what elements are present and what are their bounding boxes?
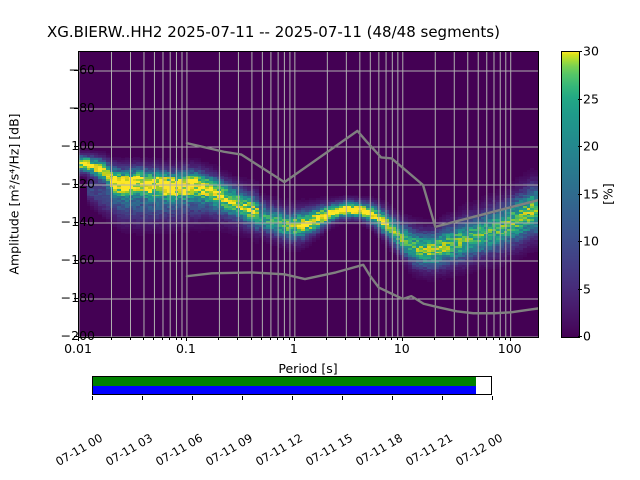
timeline-tick-mark bbox=[442, 396, 443, 400]
x-tick-mark bbox=[186, 337, 187, 341]
timeline-tick-mark bbox=[192, 396, 193, 400]
x-minor-tick-mark bbox=[499, 337, 500, 340]
colorbar-tick-label: 25 bbox=[583, 91, 599, 106]
y-tick-mark bbox=[74, 260, 78, 261]
x-minor-tick-mark bbox=[176, 337, 177, 340]
x-minor-tick-mark bbox=[130, 337, 131, 340]
colorbar-tick-label: 30 bbox=[583, 44, 599, 59]
ppsd-plot-area bbox=[78, 51, 539, 338]
colorbar-tick-mark bbox=[578, 99, 582, 100]
colorbar-tick-label: 5 bbox=[583, 281, 591, 296]
x-minor-tick-mark bbox=[453, 337, 454, 340]
x-tick-mark bbox=[510, 337, 511, 341]
x-minor-tick-mark bbox=[218, 337, 219, 340]
timeline-tick-mark bbox=[242, 396, 243, 400]
colorbar-tick-label: 0 bbox=[583, 329, 591, 344]
x-tick-label: 10 bbox=[394, 341, 410, 356]
x-minor-tick-mark bbox=[181, 337, 182, 340]
colorbar-tick-label: 10 bbox=[583, 234, 599, 249]
x-minor-tick-mark bbox=[369, 337, 370, 340]
x-minor-tick-mark bbox=[237, 337, 238, 340]
timeline-tick-label: 07-12 00 bbox=[453, 431, 505, 469]
x-minor-tick-mark bbox=[289, 337, 290, 340]
x-tick-mark bbox=[78, 337, 79, 341]
colorbar-tick-label: 20 bbox=[583, 139, 599, 154]
timeline-tick-label: 07-11 09 bbox=[203, 431, 255, 469]
ppsd-histogram bbox=[79, 52, 538, 337]
x-minor-tick-mark bbox=[169, 337, 170, 340]
timeline-tick-mark bbox=[342, 396, 343, 400]
x-minor-tick-mark bbox=[486, 337, 487, 340]
x-minor-tick-mark bbox=[385, 337, 386, 340]
x-tick-label: 100 bbox=[498, 341, 522, 356]
x-minor-tick-mark bbox=[251, 337, 252, 340]
y-axis-label: Amplitude [m²/s⁴/Hz] [dB] bbox=[7, 113, 22, 274]
y-tick-mark bbox=[74, 222, 78, 223]
colorbar-label: [%] bbox=[601, 183, 616, 205]
page-title: XG.BIERW..HH2 2025-07-11 -- 2025-07-11 (… bbox=[47, 23, 500, 41]
y-tick-mark bbox=[74, 108, 78, 109]
colorbar-tick-mark bbox=[578, 241, 582, 242]
x-minor-tick-mark bbox=[477, 337, 478, 340]
x-minor-tick-mark bbox=[345, 337, 346, 340]
x-minor-tick-mark bbox=[391, 337, 392, 340]
x-minor-tick-mark bbox=[434, 337, 435, 340]
y-tick-label: −80 bbox=[69, 100, 95, 115]
timeline-tick-mark bbox=[142, 396, 143, 400]
colorbar bbox=[561, 51, 580, 338]
x-minor-tick-mark bbox=[270, 337, 271, 340]
x-minor-tick-mark bbox=[397, 337, 398, 340]
data-coverage-green bbox=[93, 377, 476, 386]
timeline-tick-label: 07-11 00 bbox=[53, 431, 105, 469]
timeline-tick-label: 07-11 12 bbox=[253, 431, 305, 469]
y-tick-mark bbox=[74, 70, 78, 71]
timeline-tick-label: 07-11 15 bbox=[303, 431, 355, 469]
x-minor-tick-mark bbox=[359, 337, 360, 340]
x-minor-tick-mark bbox=[467, 337, 468, 340]
x-minor-tick-mark bbox=[283, 337, 284, 340]
x-minor-tick-mark bbox=[153, 337, 154, 340]
x-minor-tick-mark bbox=[111, 337, 112, 340]
colorbar-tick-mark bbox=[578, 51, 582, 52]
colorbar-tick-mark bbox=[578, 146, 582, 147]
timeline-tick-mark bbox=[292, 396, 293, 400]
data-coverage-timeline bbox=[92, 376, 492, 395]
x-minor-tick-mark bbox=[326, 337, 327, 340]
y-tick-mark bbox=[74, 146, 78, 147]
timeline-tick-mark bbox=[492, 396, 493, 400]
y-tick-mark bbox=[74, 184, 78, 185]
x-minor-tick-mark bbox=[505, 337, 506, 340]
y-tick-mark bbox=[74, 298, 78, 299]
x-minor-tick-mark bbox=[143, 337, 144, 340]
x-minor-tick-mark bbox=[277, 337, 278, 340]
x-tick-label: 0.1 bbox=[176, 341, 196, 356]
colorbar-tick-label: 15 bbox=[583, 186, 599, 201]
data-coverage-blue bbox=[93, 386, 476, 395]
timeline-tick-mark bbox=[92, 396, 93, 400]
colorbar-tick-mark bbox=[578, 336, 582, 337]
x-minor-tick-mark bbox=[493, 337, 494, 340]
x-minor-tick-mark bbox=[378, 337, 379, 340]
timeline-tick-label: 07-11 03 bbox=[103, 431, 155, 469]
colorbar-tick-mark bbox=[578, 289, 582, 290]
y-tick-label: −60 bbox=[69, 62, 95, 77]
colorbar-tick-mark bbox=[578, 194, 582, 195]
x-tick-label: 0.01 bbox=[64, 341, 92, 356]
x-axis-label: Period [s] bbox=[278, 361, 337, 376]
x-tick-mark bbox=[294, 337, 295, 341]
x-tick-label: 1 bbox=[290, 341, 298, 356]
timeline-tick-mark bbox=[392, 396, 393, 400]
timeline-tick-label: 07-11 18 bbox=[353, 431, 405, 469]
timeline-tick-label: 07-11 21 bbox=[403, 431, 455, 469]
x-minor-tick-mark bbox=[162, 337, 163, 340]
x-tick-mark bbox=[402, 337, 403, 341]
timeline-tick-label: 07-11 06 bbox=[153, 431, 205, 469]
x-minor-tick-mark bbox=[261, 337, 262, 340]
